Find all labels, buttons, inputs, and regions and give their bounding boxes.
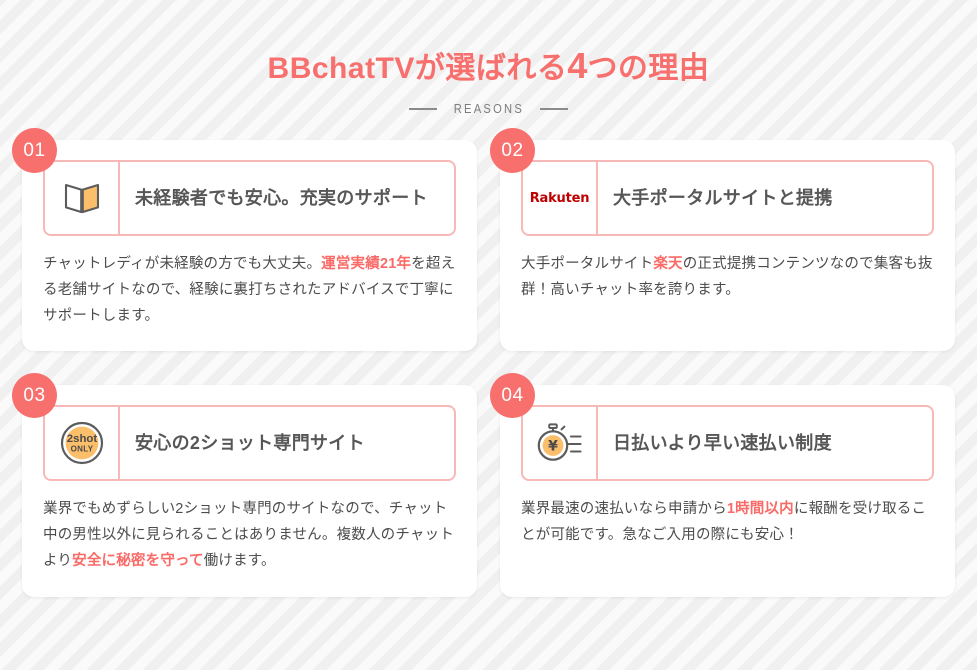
reason-title: 日払いより早い速払い制度 bbox=[613, 430, 832, 456]
reason-body: チャットレディが未経験の方でも大丈夫。運営実績21年を超える老舗サイトなので、経… bbox=[43, 252, 456, 329]
reason-title: 大手ポータルサイトと提携 bbox=[613, 185, 833, 211]
reason-body: 大手ポータルサイト楽天の正式提携コンテンツなので集客も抜群！高いチャット率を誇り… bbox=[521, 252, 934, 304]
reason-card: 01 未経験者でも安心。充実のサポート チャットレディが未経験の bbox=[22, 140, 477, 351]
svg-text:ONLY: ONLY bbox=[70, 445, 93, 454]
reason-body: 業界最速の速払いなら申請から1時間以内に報酬を受け取ることが可能です。急なご入用… bbox=[521, 497, 934, 549]
reason-body: 業界でもめずらしい2ショット専門のサイトなので、チャット中の男性以外に見られるこ… bbox=[43, 497, 456, 574]
reason-body-part: 大手ポータルサイト bbox=[521, 256, 653, 272]
reason-icon-cell: Rakuten bbox=[523, 162, 598, 234]
reason-body-highlight: 楽天 bbox=[653, 256, 682, 272]
reason-body-highlight: 運営実績21年 bbox=[321, 256, 411, 272]
reason-title: 安心の2ショット専門サイト bbox=[135, 430, 365, 456]
open-book-icon bbox=[62, 178, 102, 218]
reason-icon-cell bbox=[45, 162, 120, 234]
page-title-number: 4 bbox=[567, 45, 587, 86]
reason-body-part: 業界最速の速払いなら申請から bbox=[521, 501, 727, 517]
reason-title-cell: 日払いより早い速払い制度 bbox=[598, 407, 932, 479]
two-shot-only-badge-icon: 2shot ONLY bbox=[60, 421, 104, 465]
reason-title-cell: 安心の2ショット専門サイト bbox=[120, 407, 454, 479]
reason-title-cell: 大手ポータルサイトと提携 bbox=[598, 162, 932, 234]
reason-card-header: ¥ 日払いより早い速払い制度 bbox=[521, 405, 934, 481]
rakuten-logo-icon: Rakuten bbox=[530, 190, 590, 206]
section-subtitle: REASONS bbox=[453, 101, 523, 116]
reason-icon-cell: ¥ bbox=[523, 407, 598, 479]
page-title: BBchatTVが選ばれる4つの理由 bbox=[0, 44, 977, 87]
reason-number-badge: 02 bbox=[490, 128, 535, 173]
reason-body-part: チャットレディが未経験の方でも大丈夫。 bbox=[43, 256, 321, 272]
subtitle-rule-left bbox=[409, 108, 437, 110]
reason-card-header: Rakuten 大手ポータルサイトと提携 bbox=[521, 160, 934, 236]
stopwatch-yen-icon: ¥ bbox=[535, 421, 585, 465]
reason-body-highlight: 1時間以内 bbox=[727, 501, 794, 517]
reason-title: 未経験者でも安心。充実のサポート bbox=[135, 185, 428, 211]
reason-card-header: 2shot ONLY 安心の2ショット専門サイト bbox=[43, 405, 456, 481]
rakuten-logo-label: Rakuten bbox=[530, 191, 590, 206]
section-subtitle-row: REASONS bbox=[0, 101, 977, 116]
reason-card-header: 未経験者でも安心。充実のサポート bbox=[43, 160, 456, 236]
subtitle-rule-right bbox=[540, 108, 568, 110]
page-title-suffix: つの理由 bbox=[587, 52, 709, 85]
reason-body-highlight: 安全に秘密を守って bbox=[72, 553, 204, 569]
reason-title-cell: 未経験者でも安心。充実のサポート bbox=[120, 162, 454, 234]
reason-card: 04 ¥ bbox=[500, 385, 955, 596]
reason-icon-cell: 2shot ONLY bbox=[45, 407, 120, 479]
reason-card: 03 2shot ONLY 安心の2ショット専門サイト bbox=[22, 385, 477, 596]
page-title-prefix: BBchatTVが選ばれる bbox=[268, 52, 568, 85]
reason-card: 02 Rakuten 大手ポータルサイトと提携 大手ポータルサイト楽天の正式提携… bbox=[500, 140, 955, 351]
svg-text:2shot: 2shot bbox=[66, 434, 97, 446]
reason-body-part: 働けます。 bbox=[204, 553, 276, 569]
reason-number-badge: 01 bbox=[12, 128, 57, 173]
svg-text:¥: ¥ bbox=[548, 439, 558, 455]
reason-card-grid: 01 未経験者でも安心。充実のサポート チャットレディが未経験の bbox=[22, 140, 955, 597]
section-heading: BBchatTVが選ばれる4つの理由 REASONS bbox=[0, 44, 977, 116]
reasons-section: BBchatTVが選ばれる4つの理由 REASONS 01 bbox=[0, 0, 977, 670]
